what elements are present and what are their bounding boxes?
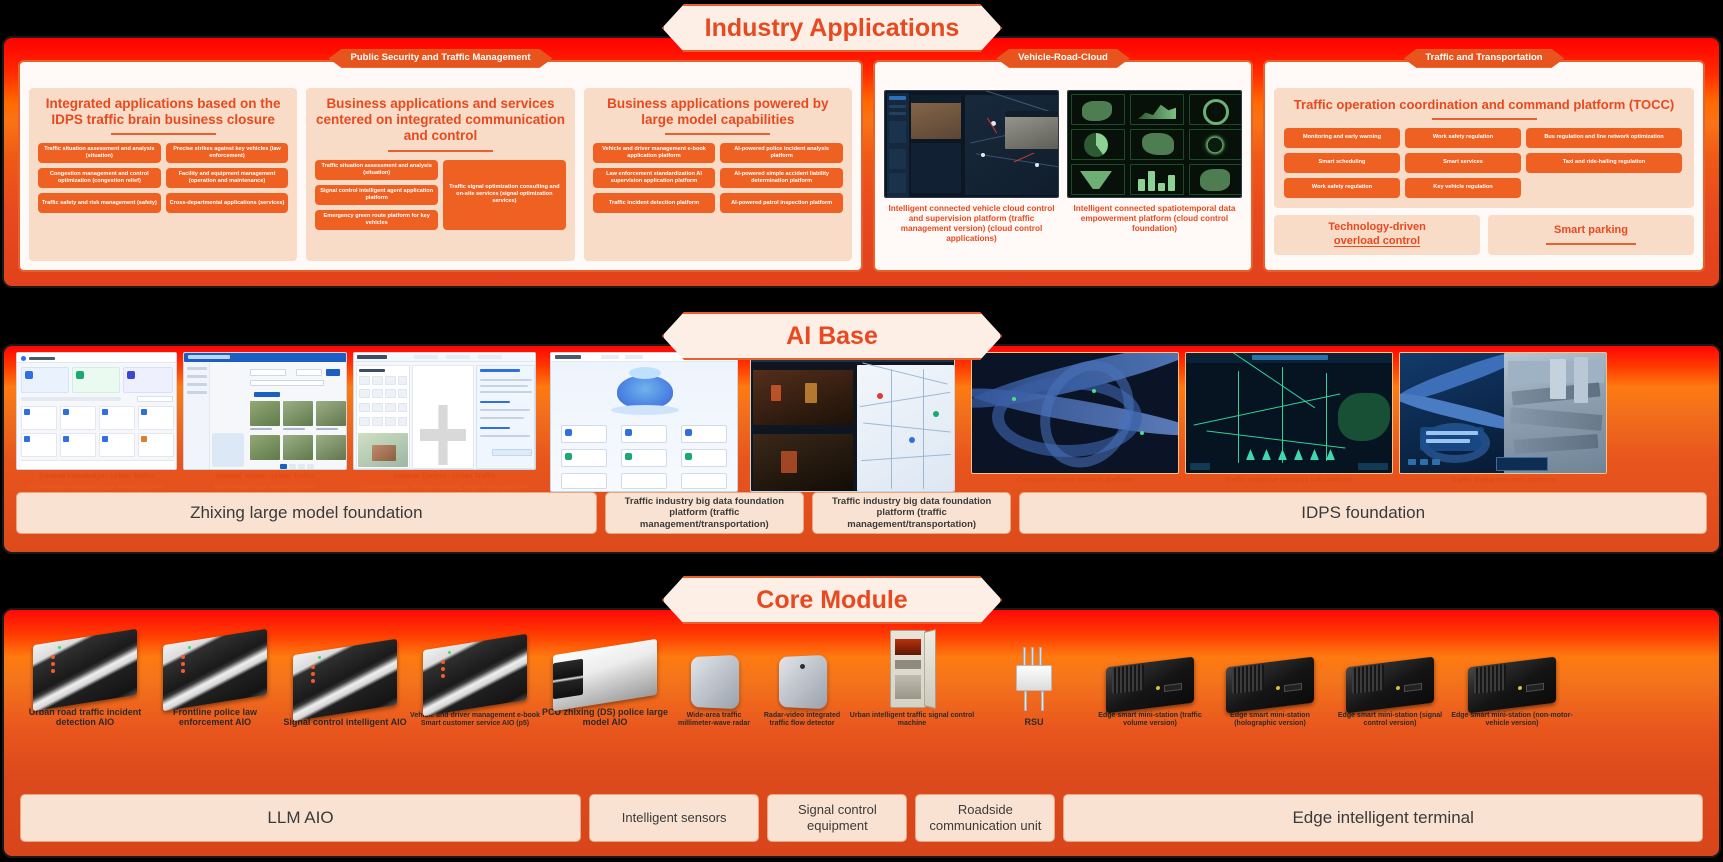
core-device-caption: Edge smart mini-station (non-motor-vehic… xyxy=(1450,712,1574,729)
chip[interactable]: Congestion management and control optimi… xyxy=(38,168,161,188)
chip[interactable]: AI-powered simple accident liability det… xyxy=(720,168,843,188)
signal-control-cabinet-icon xyxy=(884,630,940,708)
tocc-box-line1: Technology-driven xyxy=(1328,221,1426,235)
ai-item-digital-twin: Traffic digital twin sub-platform xyxy=(1399,352,1607,502)
core-device-signal-control-cabinet: Urban intelligent traffic signal control… xyxy=(846,630,978,729)
tocc-box-smart-parking[interactable]: Smart parking xyxy=(1488,215,1694,255)
ai-caption-primary: Traffic cognitive analysis sub-platform xyxy=(1225,477,1353,485)
server-aio-icon xyxy=(33,637,137,703)
title-rule xyxy=(388,150,493,152)
card-title: Business applications and services cente… xyxy=(315,96,565,145)
tocc-chip-grid: Monitoring and early warning Work safety… xyxy=(1284,128,1684,198)
chip-grid: Vehicle and driver management e-book app… xyxy=(593,143,843,213)
ai-bar-idps-foundation[interactable]: IDPS foundation xyxy=(1019,492,1707,534)
infographic-root: Public Security and Traffic Management I… xyxy=(0,0,1723,862)
core-device-rsu: RSU xyxy=(978,647,1090,728)
ai-item-bigdata-video xyxy=(750,352,955,502)
tocc-chip[interactable]: Smart scheduling xyxy=(1284,153,1400,173)
tocc-chip[interactable]: Work safety regulation xyxy=(1405,128,1521,148)
core-device-edge-non-motor: Edge smart mini-station (non-motor-vehic… xyxy=(1450,662,1574,729)
core-device-signal-control-aio: Signal control intelligent AIO xyxy=(280,647,410,728)
core-device-caption: Urban intelligent traffic signal control… xyxy=(846,712,978,729)
screenshot-control-platform xyxy=(353,352,536,470)
tocc-wrapper: Traffic operation coordination and comma… xyxy=(1274,88,1694,261)
screenshot-vision-platform xyxy=(183,352,347,470)
chip[interactable]: AI-powered patrol inspection platform xyxy=(720,193,843,213)
chip-grid: Traffic situation assessment and analysi… xyxy=(315,160,565,230)
chip[interactable]: Precise strikes against key vehicles (la… xyxy=(166,143,289,163)
screenshot-bigdata-flow xyxy=(550,352,738,492)
core-device-caption: Edge smart mini-station (traffic volume … xyxy=(1090,712,1210,729)
ai-base-screenshot-row: General Knowledge - Urban Traffic Knowle… xyxy=(16,352,1707,502)
banner-industry-applications: Industry Applications xyxy=(662,4,1002,52)
server-aio-icon xyxy=(423,642,527,708)
tocc-chip[interactable]: Monitoring and early warning xyxy=(1284,128,1400,148)
ai-caption-primary: General Knowledge - Urban Traffic xyxy=(39,473,154,481)
screenshot-knowledge-platform xyxy=(16,352,177,470)
core-device-pcu-zhixing-aio: PCU zhixing (DS) police large model AIO xyxy=(540,647,670,728)
ai-caption-primary: Computable road network platform xyxy=(1017,477,1133,485)
screenshot-dashboard-green xyxy=(1067,90,1242,198)
chip[interactable]: Facility and equipment management (opera… xyxy=(166,168,289,188)
banner-core-module: Core Module xyxy=(662,576,1002,624)
rack-server-icon xyxy=(553,647,657,703)
core-device-caption: Edge smart mini-station (signal control … xyxy=(1330,712,1450,729)
panel-tab-vehicle-road-cloud: Vehicle-Road-Cloud xyxy=(996,49,1130,68)
ai-item-bigdata-flow xyxy=(550,352,738,502)
core-bar-row: LLM AIO Intelligent sensors Signal contr… xyxy=(20,794,1703,842)
industry-panels: Public Security and Traffic Management I… xyxy=(18,60,1705,272)
chip[interactable]: Traffic signal optimization consulting a… xyxy=(443,160,566,230)
card-title: Integrated applications based on the IDP… xyxy=(38,96,288,128)
screenshot-road-network xyxy=(971,352,1179,474)
tocc-box-overload-control[interactable]: Technology-driven overload control xyxy=(1274,215,1480,255)
panel-public-security: Public Security and Traffic Management I… xyxy=(18,60,863,272)
edge-mini-station-icon xyxy=(1468,662,1556,708)
core-device-caption: Edge smart mini-station (holographic ver… xyxy=(1210,712,1330,729)
core-bar-roadside-communication-unit[interactable]: Roadside communication unit xyxy=(915,794,1055,842)
tocc-chip[interactable]: Bus regulation and line network optimiza… xyxy=(1526,128,1682,148)
chip-column-left: Traffic situation assessment and analysi… xyxy=(315,160,438,230)
screenshot-dashboard-map xyxy=(884,90,1059,198)
tocc-chip[interactable]: Smart services xyxy=(1405,153,1521,173)
vrc-caption: Intelligent connected spatiotemporal dat… xyxy=(1067,204,1242,234)
chip[interactable]: Vehicle and driver management e-book app… xyxy=(593,143,716,163)
tocc-box-rule xyxy=(1546,243,1636,245)
panel-traffic-transportation: Traffic and Transportation Traffic opera… xyxy=(1263,60,1705,272)
chip[interactable]: Emergency green route platform for key v… xyxy=(315,210,438,230)
ai-bar-zhixing-foundation[interactable]: Zhixing large model foundation xyxy=(16,492,597,534)
vrc-item-cloud-control-application: Intelligent connected vehicle cloud cont… xyxy=(884,90,1059,243)
ai-item-control: General Control - Urban Traffic Spatiote… xyxy=(353,352,536,502)
core-device-caption: Radar-video integrated traffic flow dete… xyxy=(758,712,846,729)
panel-tab-public-security: Public Security and Traffic Management xyxy=(328,49,552,68)
core-bar-signal-control-equipment[interactable]: Signal control equipment xyxy=(767,794,907,842)
ai-caption-primary: General Control - Urban Traffic xyxy=(393,473,495,481)
section-ai-base: General Knowledge - Urban Traffic Knowle… xyxy=(2,344,1721,554)
ai-bar-bigdata-traffic-mgmt[interactable]: Traffic industry big data foundation pla… xyxy=(605,492,804,534)
ai-base-bar-row: Zhixing large model foundation Traffic i… xyxy=(16,492,1707,534)
core-bar-llm-aio[interactable]: LLM AIO xyxy=(20,794,581,842)
chip[interactable]: Traffic situation assessment and analysi… xyxy=(38,143,161,163)
ai-item-knowledge: General Knowledge - Urban Traffic Knowle… xyxy=(16,352,177,502)
chip[interactable]: Law enforcement standardization AI super… xyxy=(593,168,716,188)
card-title: Business applications powered by large m… xyxy=(593,96,843,128)
tocc-bottom-row: Technology-driven overload control Smart… xyxy=(1274,215,1694,255)
tocc-card: Traffic operation coordination and comma… xyxy=(1274,88,1694,208)
chip[interactable]: AI-powered police incident analysis plat… xyxy=(720,143,843,163)
title-rule xyxy=(1432,118,1537,120)
core-device-edge-traffic-volume: Edge smart mini-station (traffic volume … xyxy=(1090,662,1210,729)
core-bar-intelligent-sensors[interactable]: Intelligent sensors xyxy=(589,794,759,842)
radar-video-detector-icon xyxy=(777,656,827,708)
core-device-vehicle-driver-aio: Vehicle and driver management e-book Sma… xyxy=(410,642,540,729)
tocc-chip[interactable]: Key vehicle regulation xyxy=(1405,178,1521,198)
chip[interactable]: Cross-departmental applications (service… xyxy=(166,193,289,213)
card-large-model-capabilities: Business applications powered by large m… xyxy=(584,88,852,261)
panel-vehicle-road-cloud: Vehicle-Road-Cloud xyxy=(873,60,1253,272)
rsu-icon xyxy=(1012,647,1056,713)
ai-item-vision: General Vision - Urban Traffic Multimoda… xyxy=(183,352,347,502)
card-integrated-communication: Business applications and services cente… xyxy=(306,88,574,261)
chip-grid: Traffic situation assessment and analysi… xyxy=(38,143,288,213)
screenshot-cognitive-analysis xyxy=(1185,352,1393,474)
tocc-box-line1: Smart parking xyxy=(1554,224,1628,238)
core-bar-edge-intelligent-terminal[interactable]: Edge intelligent terminal xyxy=(1063,794,1703,842)
tocc-chip[interactable]: Work safety regulation xyxy=(1284,178,1400,198)
radar-sensor-icon xyxy=(689,656,739,708)
ai-bar-bigdata-transportation[interactable]: Traffic industry big data foundation pla… xyxy=(812,492,1011,534)
core-device-row: Urban road traffic incident detection AI… xyxy=(20,618,1703,728)
core-device-edge-signal-control: Edge smart mini-station (signal control … xyxy=(1330,662,1450,729)
server-aio-icon xyxy=(163,637,267,703)
screenshot-bigdata-video xyxy=(750,352,955,492)
title-rule xyxy=(665,133,770,135)
section-industry-applications: Public Security and Traffic Management I… xyxy=(2,36,1721,288)
tocc-box-line2: overload control xyxy=(1334,235,1420,249)
panel-tab-traffic-transportation: Traffic and Transportation xyxy=(1403,49,1564,68)
core-device-radar-video-detector: Radar-video integrated traffic flow dete… xyxy=(758,656,846,729)
server-aio-icon xyxy=(293,647,397,713)
core-device-urban-incident-aio: Urban road traffic incident detection AI… xyxy=(20,637,150,728)
edge-mini-station-icon xyxy=(1346,662,1434,708)
chip[interactable]: Traffic situation assessment and analysi… xyxy=(315,160,438,180)
edge-mini-station-icon xyxy=(1106,662,1194,708)
title-rule xyxy=(111,133,216,135)
core-device-caption: RSU xyxy=(1024,717,1043,728)
ai-caption-primary: Traffic digital twin sub-platform xyxy=(1451,477,1555,485)
vrc-item-cloud-control-foundation: Intelligent connected spatiotemporal dat… xyxy=(1067,90,1242,234)
chip[interactable]: Traffic safety and risk management (safe… xyxy=(38,193,161,213)
ai-caption-primary: General Vision - Urban Traffic xyxy=(216,473,314,481)
screenshot-digital-twin xyxy=(1399,352,1607,474)
core-device-caption: Wide-area traffic millimeter-wave radar xyxy=(670,712,758,729)
banner-ai-base: AI Base xyxy=(662,312,1002,360)
chip[interactable]: Traffic incident detection platform xyxy=(593,193,716,213)
section-core-module: Urban road traffic incident detection AI… xyxy=(2,608,1721,858)
edge-mini-station-icon xyxy=(1226,662,1314,708)
chip[interactable]: Signal control intelligent agent applica… xyxy=(315,185,438,205)
card-idps-traffic-brain: Integrated applications based on the IDP… xyxy=(29,88,297,261)
core-device-mmwave-radar: Wide-area traffic millimeter-wave radar xyxy=(670,656,758,729)
chip-column-right: Traffic signal optimization consulting a… xyxy=(443,160,566,230)
ai-item-road-network: Computable road network platform xyxy=(971,352,1179,502)
tocc-title: Traffic operation coordination and comma… xyxy=(1284,97,1684,113)
ai-item-cognitive-analysis: Traffic cognitive analysis sub-platform xyxy=(1185,352,1393,502)
tocc-chip[interactable]: Taxi and ride-hailing regulation xyxy=(1526,153,1682,173)
core-device-police-enforcement-aio: Frontline police law enforcement AIO xyxy=(150,637,280,728)
vrc-caption: Intelligent connected vehicle cloud cont… xyxy=(884,204,1059,243)
core-device-edge-holographic: Edge smart mini-station (holographic ver… xyxy=(1210,662,1330,729)
